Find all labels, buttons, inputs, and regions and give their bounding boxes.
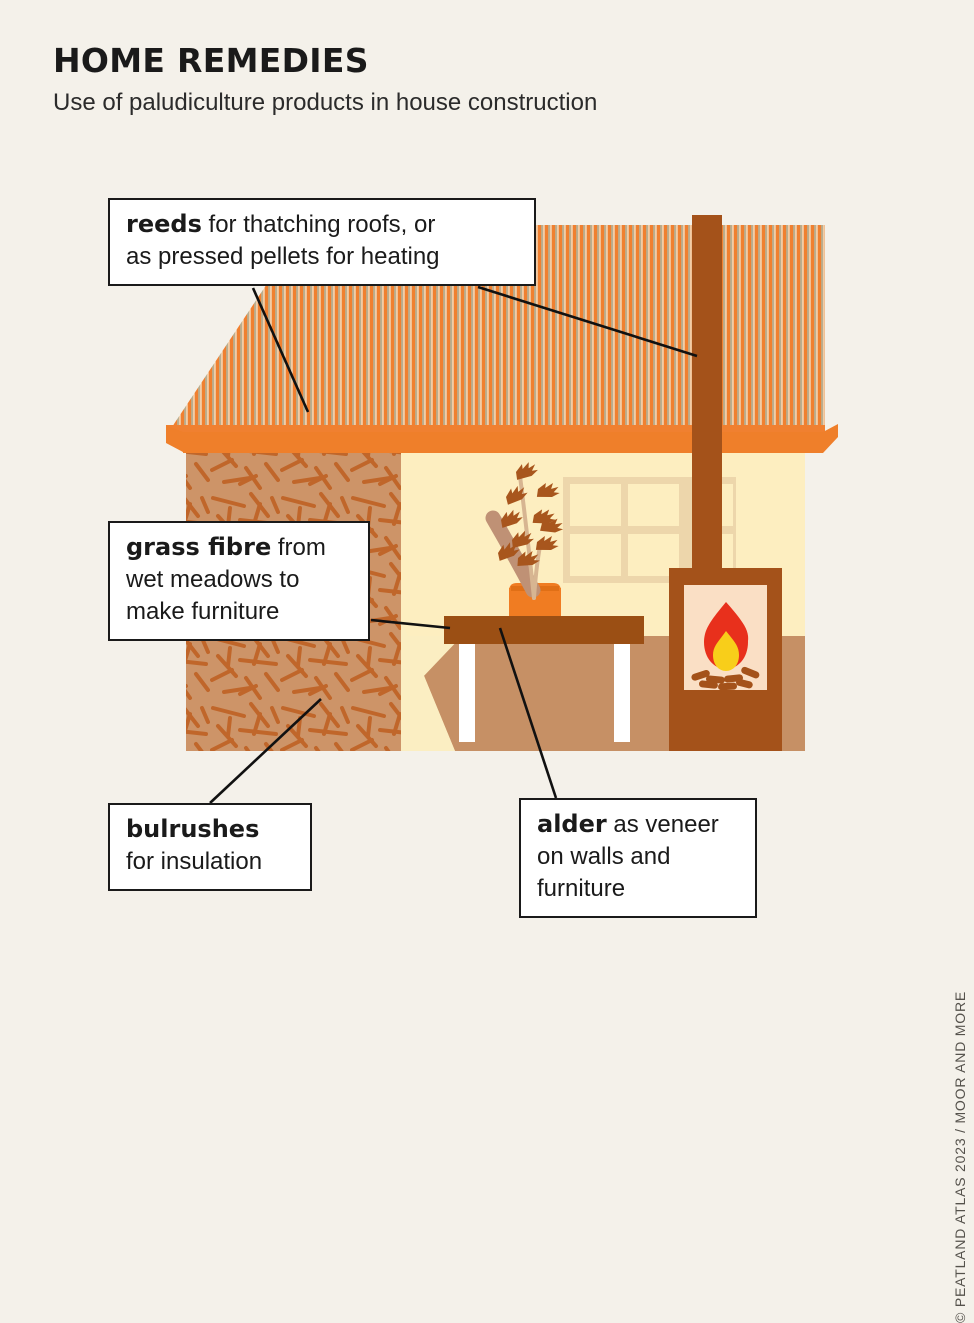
callout-reeds-line1: reeds for thatching roofs, or <box>126 209 520 241</box>
callout-alder-line1-rest: as veneer <box>607 811 719 838</box>
callout-bulrushes-line1: bulrushes <box>126 814 296 846</box>
callout-alder-line3: furniture <box>537 873 741 905</box>
callout-alder: alder as veneer on walls and furniture <box>519 798 757 918</box>
chimney-upper <box>692 215 722 455</box>
infographic-canvas: HOME REMEDIES Use of paludiculture produ… <box>0 0 974 1009</box>
callout-grass-fibre: grass fibre from wet meadows to make fur… <box>108 521 370 641</box>
callout-reeds-term: reeds <box>126 210 202 238</box>
callout-grass-line3: make furniture <box>126 596 354 628</box>
stove <box>669 568 782 751</box>
callout-grass-line1: grass fibre from <box>126 532 354 564</box>
callout-grass-line2: wet meadows to <box>126 564 354 596</box>
callout-reeds-line1-rest: for thatching roofs, or <box>202 211 435 238</box>
callout-bulrushes-term: bulrushes <box>126 815 259 843</box>
callout-grass-line1-rest: from <box>271 534 326 561</box>
callout-alder-line1: alder as veneer <box>537 809 741 841</box>
source-credit: © PEATLAND ATLAS 2023 / MOOR AND MORE <box>952 991 968 1323</box>
callout-reeds-line2: as pressed pellets for heating <box>126 241 520 273</box>
callout-bulrushes: bulrushes for insulation <box>108 803 312 891</box>
callout-alder-line2: on walls and <box>537 841 741 873</box>
callout-bulrushes-line2: for insulation <box>126 846 296 878</box>
callout-alder-term: alder <box>537 810 607 838</box>
callout-reeds: reeds for thatching roofs, or as pressed… <box>108 198 536 286</box>
callout-grass-term: grass fibre <box>126 533 271 561</box>
